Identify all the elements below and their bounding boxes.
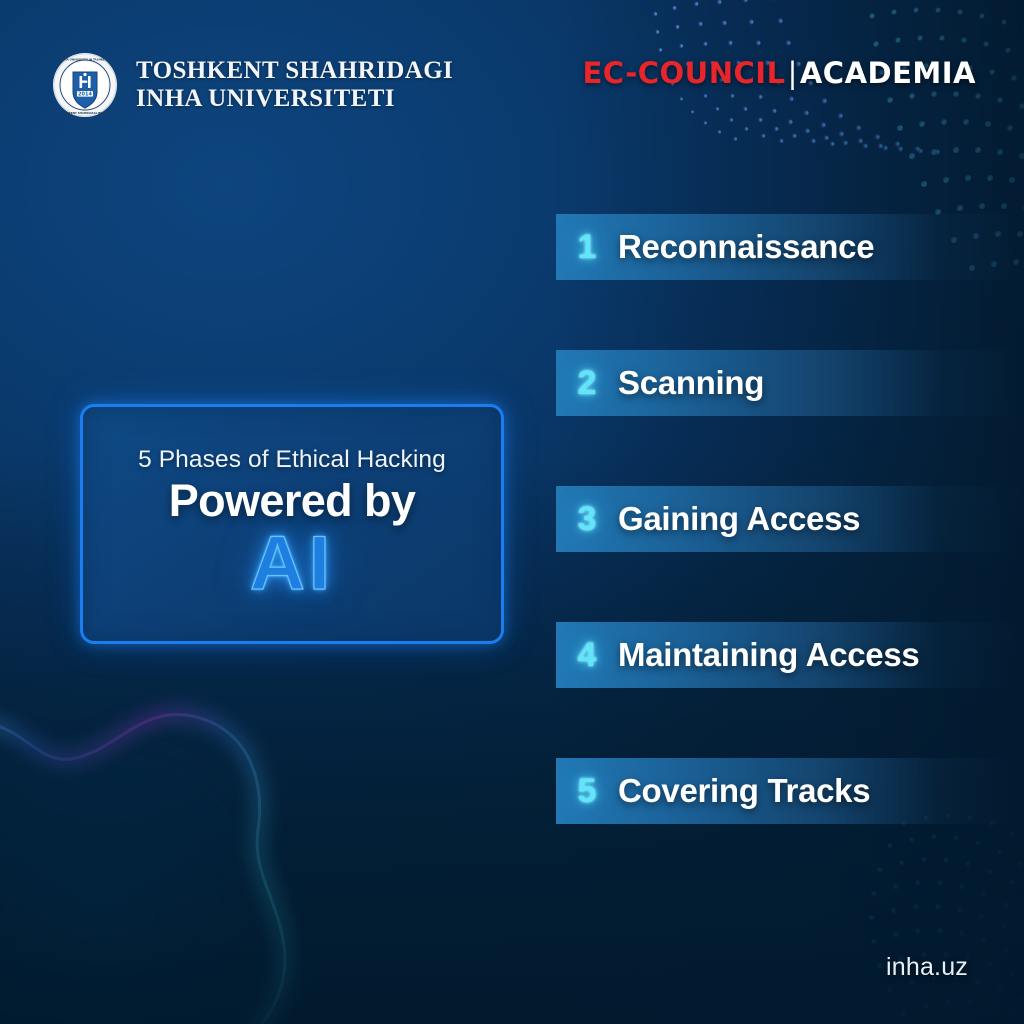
ec-council-academia-logo: EC-COUNCIL | ACADEMIA [582, 56, 976, 90]
phase-item-4: 4 Maintaining Access [556, 622, 1024, 688]
phase-number: 3 [556, 500, 618, 539]
hero-subtitle: 5 Phases of Ethical Hacking [138, 446, 446, 474]
svg-text:2014: 2014 [78, 91, 92, 97]
university-seal-icon: 2014 INHA UNIVERSITY IN TASHKENT TOSHKEN… [52, 52, 118, 118]
phase-list: 1 Reconnaissance 2 Scanning 3 Gaining Ac… [556, 214, 1024, 824]
phase-number: 5 [556, 772, 618, 811]
university-brand: 2014 INHA UNIVERSITY IN TASHKENT TOSHKEN… [52, 52, 453, 118]
infographic-poster: 2014 INHA UNIVERSITY IN TASHKENT TOSHKEN… [0, 0, 1024, 1024]
phase-label: Scanning [618, 364, 764, 402]
phase-label: Covering Tracks [618, 772, 870, 810]
phase-number: 2 [556, 364, 618, 403]
ec-council-text: EC-COUNCIL [582, 56, 785, 90]
hero-title: Powered by [169, 477, 416, 524]
phase-number: 4 [556, 636, 618, 675]
website-url[interactable]: inha.uz [886, 953, 968, 982]
phase-label: Reconnaissance [618, 228, 874, 266]
academia-text: ACADEMIA [800, 56, 976, 90]
poster-header: 2014 INHA UNIVERSITY IN TASHKENT TOSHKEN… [0, 0, 1024, 150]
phase-number: 1 [556, 228, 618, 267]
phase-item-1: 1 Reconnaissance [556, 214, 1024, 280]
phase-item-2: 2 Scanning [556, 350, 1024, 416]
university-name: TOSHKENT SHAHRIDAGI INHA UNIVERSITETI [136, 57, 453, 113]
glow-blob-icon [0, 654, 350, 1024]
phase-item-3: 3 Gaining Access [556, 486, 1024, 552]
phase-item-5: 5 Covering Tracks [556, 758, 1024, 824]
svg-text:INHA UNIVERSITY IN TASHKENT: INHA UNIVERSITY IN TASHKENT [61, 58, 109, 62]
hero-card: 5 Phases of Ethical Hacking Powered by A… [80, 404, 504, 644]
svg-text:TOSHKENT SHAHRIDAGI INHA U.: TOSHKENT SHAHRIDAGI INHA U. [61, 111, 110, 115]
ec-separator: | [788, 56, 798, 90]
hero-ai-highlight: AI [250, 526, 334, 602]
phase-label: Maintaining Access [618, 636, 919, 674]
phase-label: Gaining Access [618, 500, 860, 538]
